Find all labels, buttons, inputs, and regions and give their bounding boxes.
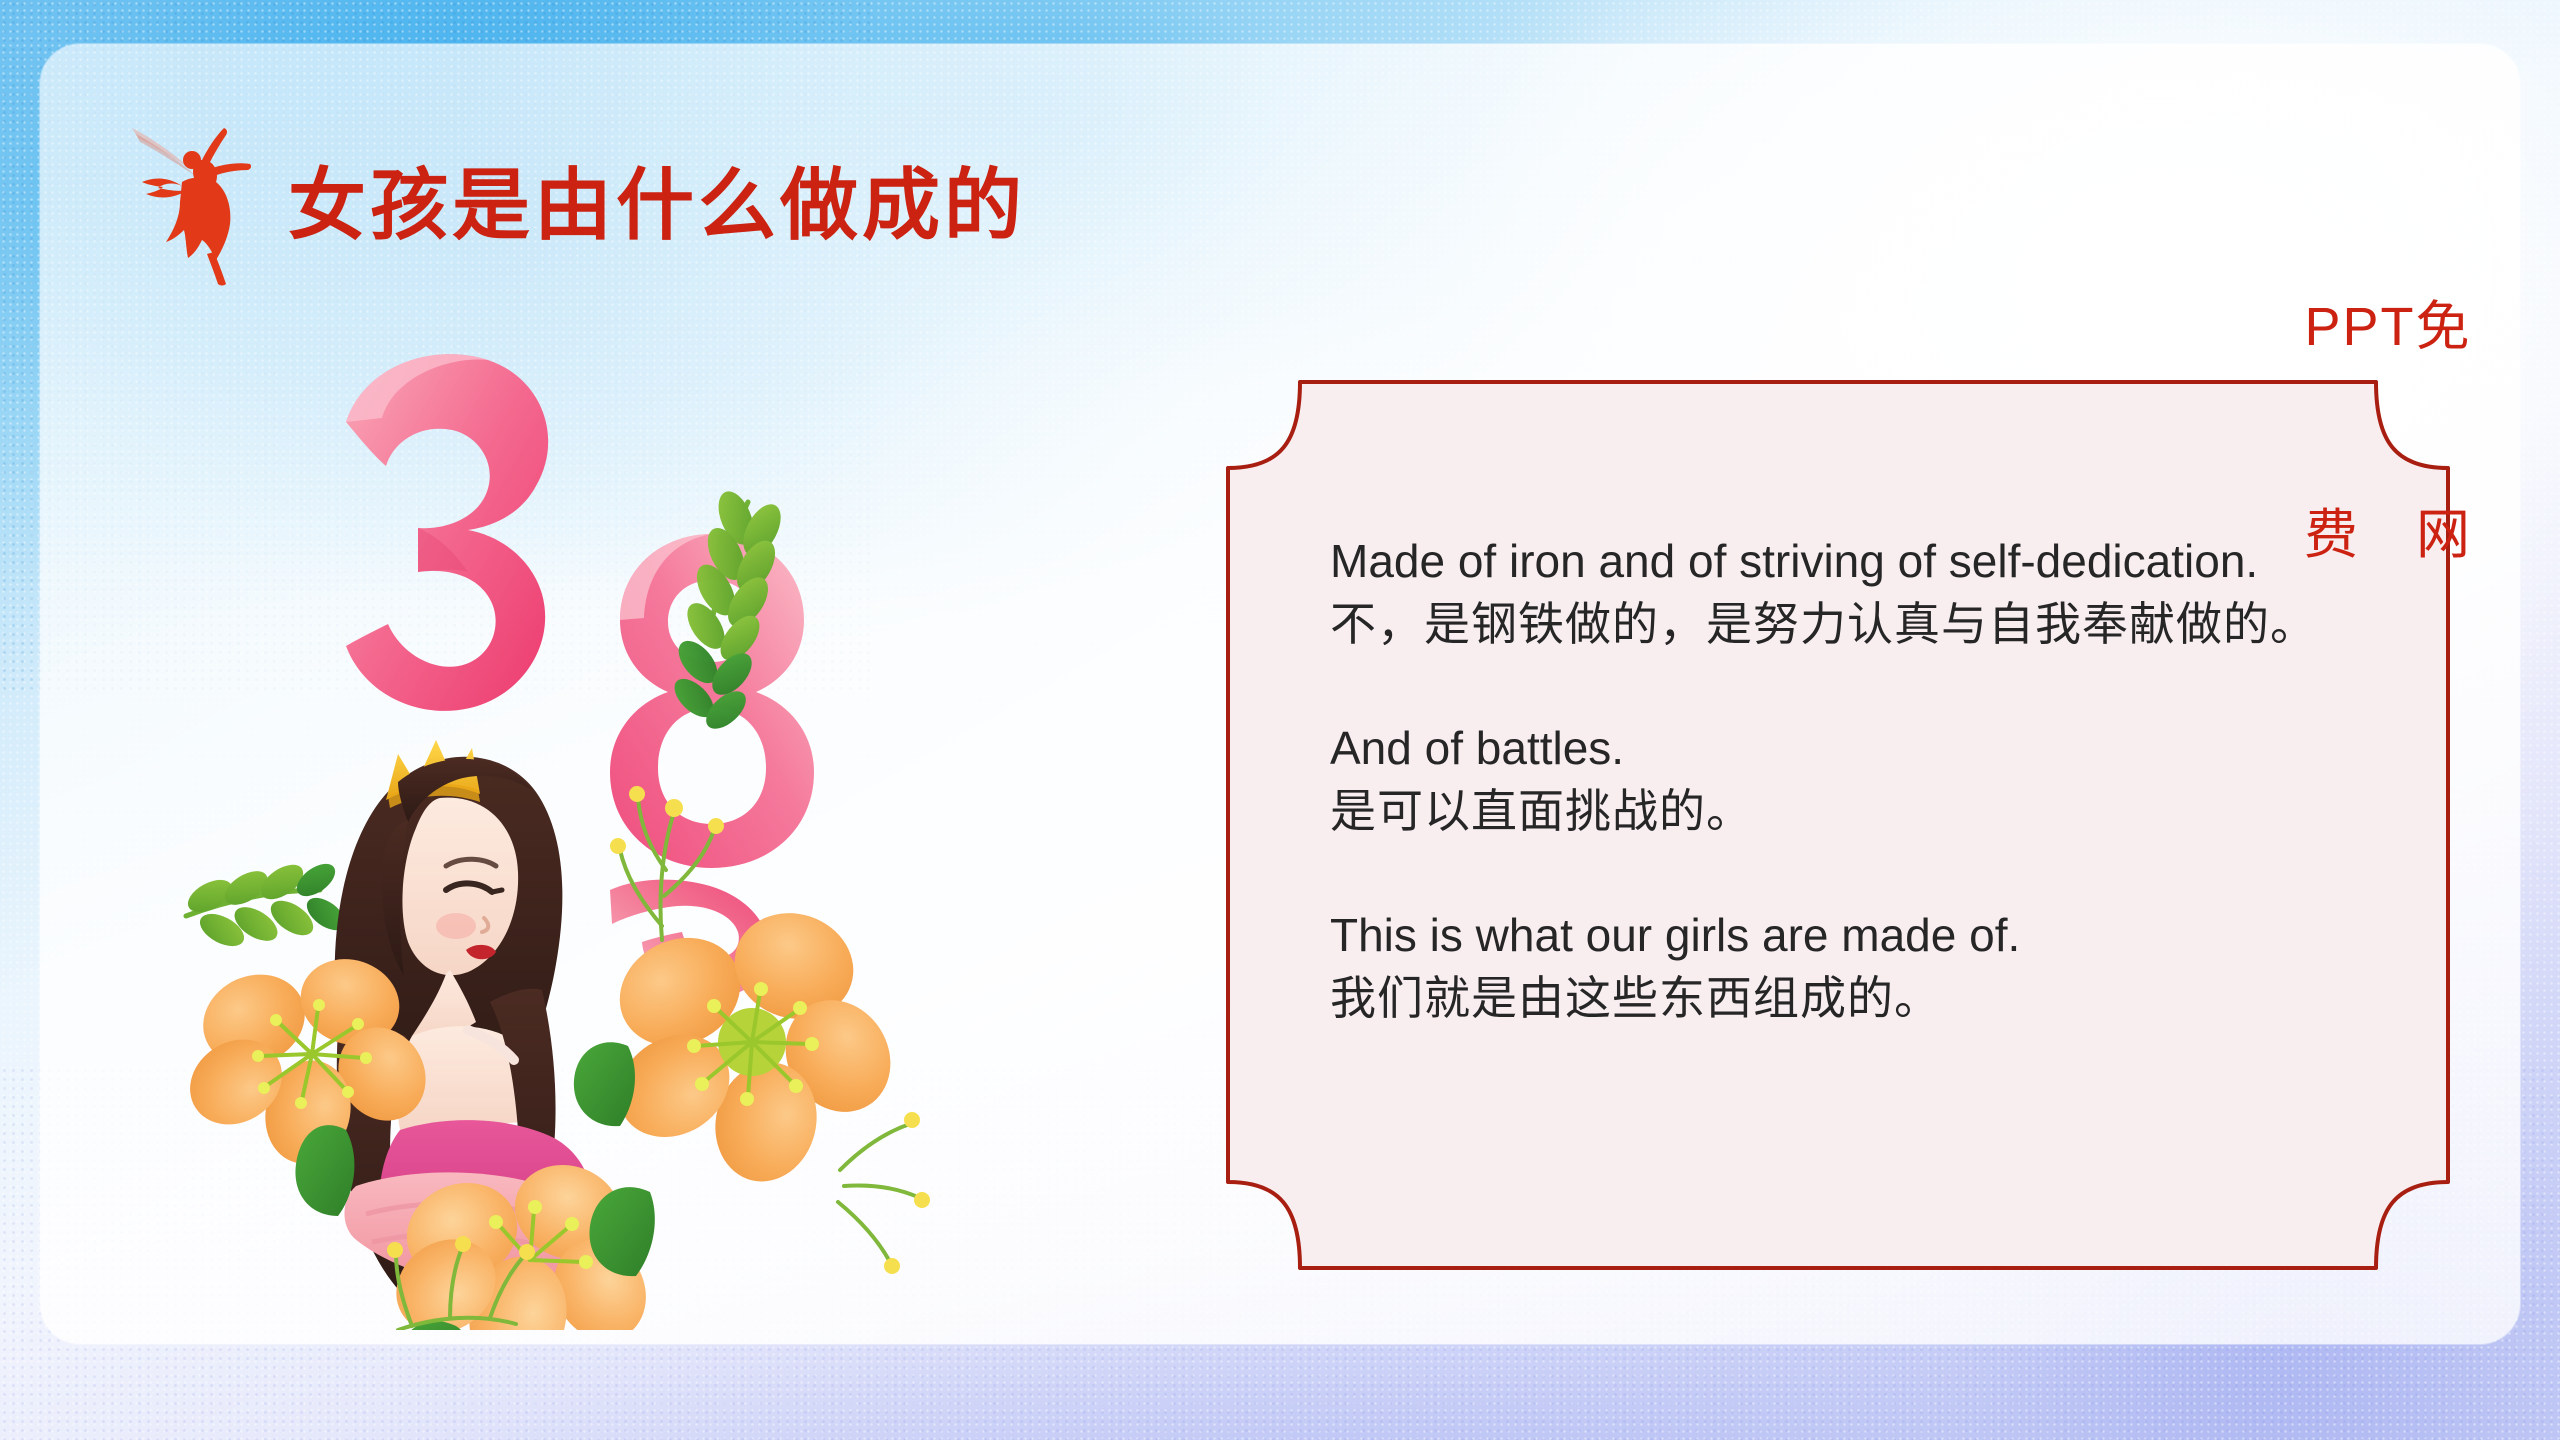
- watermark-line-2: 费 网: [2304, 501, 2472, 570]
- quote-paragraph: Made of iron and of striving of self-ded…: [1330, 530, 2380, 655]
- quote-paragraph: And of battles. 是可以直面挑战的。: [1330, 717, 2380, 842]
- quote-line-en: And of battles.: [1330, 717, 2380, 780]
- quote-line-zh: 是可以直面挑战的。: [1330, 780, 2380, 843]
- page-title: 女孩是由什么做成的: [288, 166, 1026, 244]
- watermark-line-1: PPT免: [2304, 293, 2472, 362]
- quote-paragraph: This is what our girls are made of. 我们就是…: [1330, 904, 2380, 1029]
- quote-text: Made of iron and of striving of self-ded…: [1330, 530, 2380, 1029]
- women-day-illustration: [150, 330, 930, 1330]
- dancer-icon: [130, 120, 260, 290]
- slide-header: 女孩是由什么做成的: [130, 120, 1026, 290]
- presentation-slide: 女孩是由什么做成的 PPT免 费 网: [0, 0, 2560, 1440]
- quote-line-en: This is what our girls are made of.: [1330, 904, 2380, 967]
- quote-panel: Made of iron and of striving of self-ded…: [1226, 380, 2450, 1270]
- watermark: PPT免 费 网: [2304, 155, 2472, 708]
- illustration-graphic: [150, 330, 930, 1330]
- quote-line-en: Made of iron and of striving of self-ded…: [1330, 530, 2380, 593]
- quote-line-zh: 我们就是由这些东西组成的。: [1330, 967, 2380, 1030]
- leaf-sprig-left: [183, 857, 351, 952]
- quote-line-zh: 不，是钢铁做的，是努力认真与自我奉献做的。: [1330, 593, 2380, 656]
